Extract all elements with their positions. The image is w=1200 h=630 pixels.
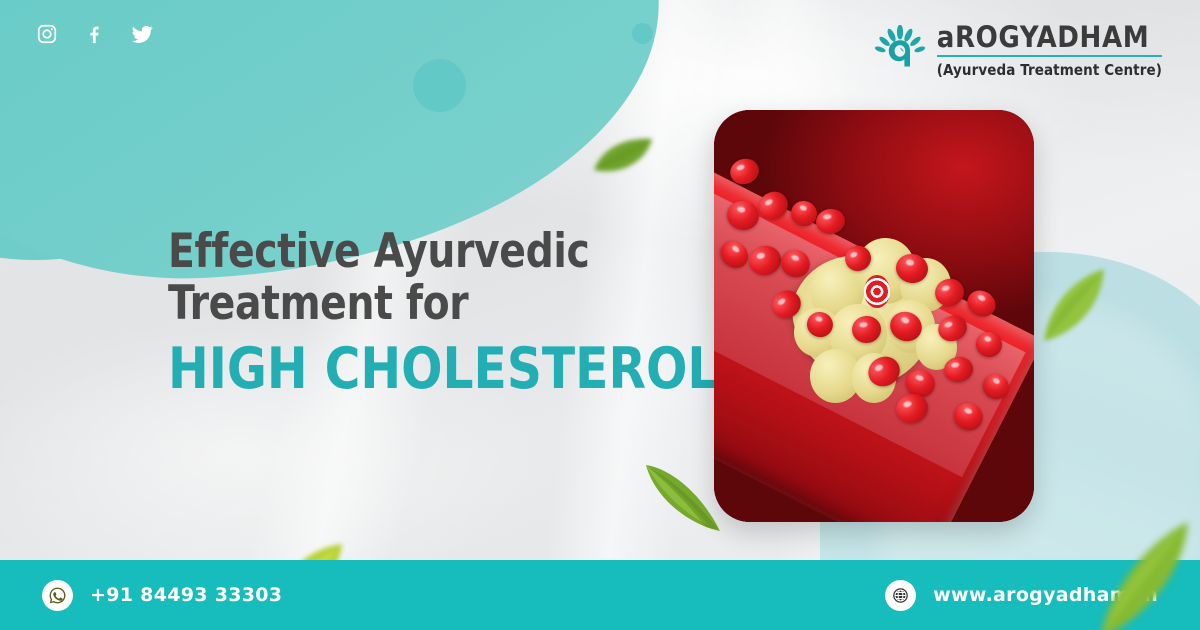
ayurveda-leaf-a-icon [874,25,926,77]
social-links [36,22,154,46]
teal-circle-decoration-large [413,59,466,112]
phone-number: +91 84493 33303 [90,584,282,606]
headline-accent: HIGH CHOLESTEROL [168,336,718,402]
globe-icon [885,580,916,611]
headline-line-2: Treatment for [168,278,707,330]
leaf-decoration-top [592,136,654,176]
logo-divider [937,55,1162,57]
headline-block: Effective Ayurvedic Treatment for HIGH C… [168,226,747,402]
leaf-decoration-bottom-right [1092,520,1200,630]
facebook-icon[interactable] [83,23,105,45]
blood-vessel-cholesterol-image [714,110,1034,522]
brand-logo[interactable]: aROGYADHAM (Ayurveda Treatment Centre) [874,22,1162,79]
leaf-decoration-middle [639,455,727,537]
twitter-icon[interactable] [130,22,154,46]
teal-circle-decoration-small [632,23,653,44]
leaf-decoration-right [1040,265,1112,345]
logo-tagline: (Ayurveda Treatment Centre) [937,61,1162,79]
instagram-icon[interactable] [36,23,58,45]
logo-wordmark: aROGYADHAM (Ayurveda Treatment Centre) [937,22,1162,79]
contact-footer: +91 84493 33303 www.arogyadham.in [0,560,1200,630]
headline-line-1: Effective Ayurvedic [168,226,707,278]
logo-name: aROGYADHAM [937,22,1162,52]
phone-contact[interactable]: +91 84493 33303 [42,580,282,611]
whatsapp-icon [42,580,73,611]
promo-banner: Effective Ayurvedic Treatment for HIGH C… [0,0,1200,630]
